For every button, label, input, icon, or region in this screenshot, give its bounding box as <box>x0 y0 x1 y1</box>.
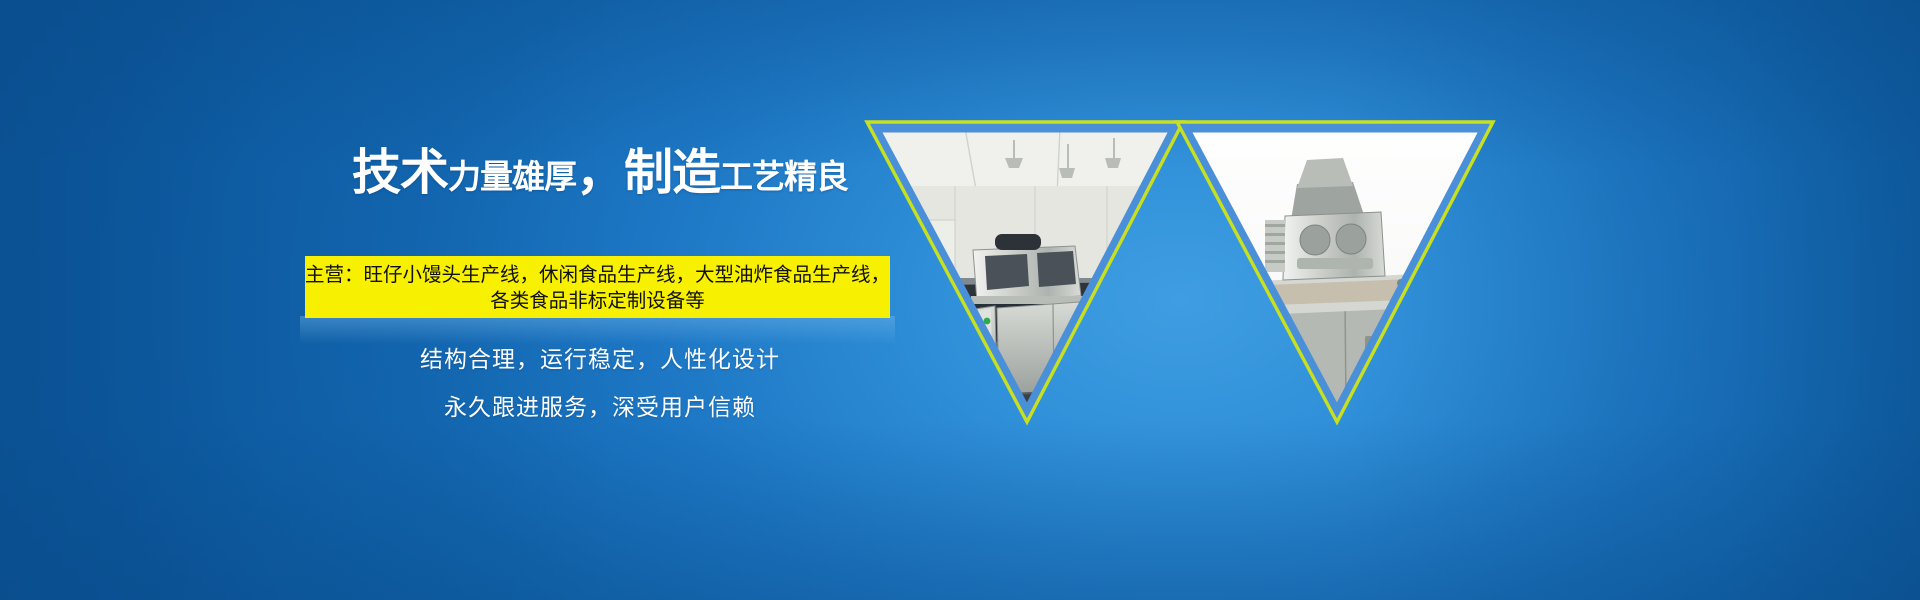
photo-triangle-svg <box>845 100 1585 440</box>
promo-banner: 技术 力量雄厚 ， 制造 工艺精良 主营：旺仔小馒头生产线，休闲食品生产线，大型… <box>0 0 1920 600</box>
tagline-block: 结构合理，运行稳定，人性化设计 永久跟进服务，深受用户信赖 <box>300 336 900 432</box>
tagline-line-1: 结构合理，运行稳定，人性化设计 <box>300 336 900 384</box>
tagline-line-2: 永久跟进服务，深受用户信赖 <box>300 384 900 432</box>
headline-segment-4: 制造 <box>624 148 720 197</box>
headline-segment-2: 力量雄厚 <box>448 160 576 193</box>
main-business-line-2: 各类食品非标定制设备等 <box>490 288 705 314</box>
headline-segment-5: 工艺精良 <box>720 160 848 193</box>
photo-triangle-group <box>845 100 1585 440</box>
headline-segment-1: 技术 <box>352 148 448 197</box>
headline-block: 技术 力量雄厚 ， 制造 工艺精良 <box>300 148 900 206</box>
forming-machine-photo <box>1175 100 1505 440</box>
page-headline: 技术 力量雄厚 ， 制造 工艺精良 <box>300 148 900 206</box>
main-business-line-1: 主营：旺仔小馒头生产线，休闲食品生产线，大型油炸食品生产线， <box>305 262 890 288</box>
main-business-strip: 主营：旺仔小馒头生产线，休闲食品生产线，大型油炸食品生产线， 各类食品非标定制设… <box>305 256 890 318</box>
headline-segment-3: ， <box>576 148 624 197</box>
